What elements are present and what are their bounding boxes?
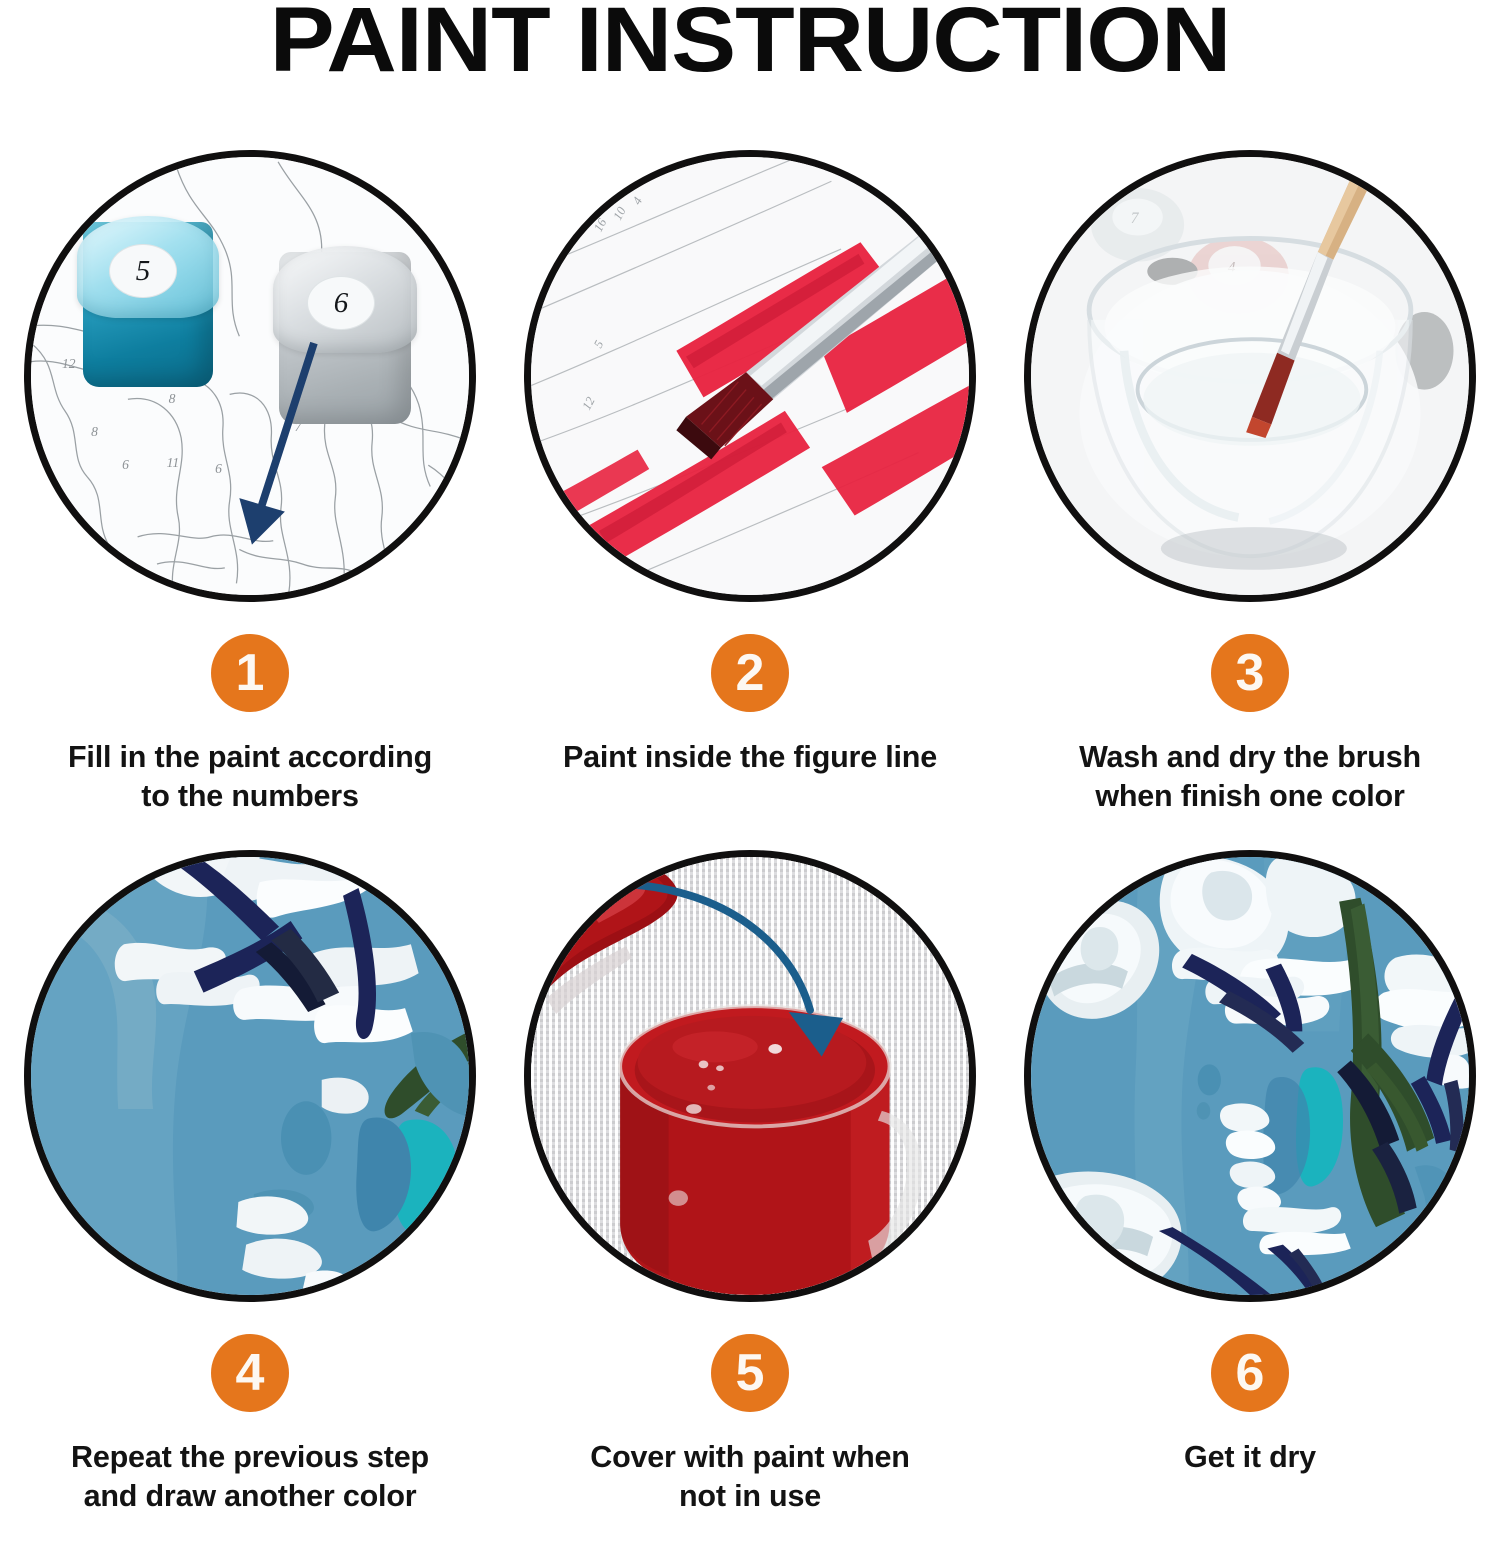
step-2-badge: 2 bbox=[711, 634, 789, 712]
svg-text:16: 16 bbox=[591, 216, 610, 234]
step-3-badge: 3 bbox=[1211, 634, 1289, 712]
step-3-photo: 7 4 bbox=[1024, 150, 1476, 602]
red-paint-strokes: 16 10 4 5 12 bbox=[531, 157, 969, 595]
svg-text:5: 5 bbox=[591, 338, 606, 350]
step-3-caption: Wash and dry the brush when finish one c… bbox=[1015, 738, 1485, 816]
painted-canvas-artwork bbox=[31, 857, 469, 1295]
instruction-steps-grid: 12 8 8 6 11 6 7 5 bbox=[0, 150, 1500, 1550]
water-glass-with-brush: 7 4 bbox=[1031, 157, 1469, 595]
step-1-photo: 12 8 8 6 11 6 7 5 bbox=[24, 150, 476, 602]
water-glass bbox=[1079, 238, 1420, 569]
step-5-photo bbox=[524, 850, 976, 1302]
step-3: 7 4 bbox=[1000, 150, 1500, 850]
step-6-caption: Get it dry bbox=[1015, 1438, 1485, 1477]
scene-paint-pots-on-numbered-canvas: 12 8 8 6 11 6 7 5 bbox=[31, 157, 469, 595]
step-2-photo: 16 10 4 5 12 bbox=[524, 150, 976, 602]
scene-brush-rinsed-in-water-glass: 7 4 bbox=[1031, 157, 1469, 595]
step-1-caption: Fill in the paint according to the numbe… bbox=[15, 738, 485, 816]
step-6-badge: 6 bbox=[1211, 1334, 1289, 1412]
page-title: PAINT INSTRUCTION bbox=[0, 0, 1500, 86]
step-5-badge: 5 bbox=[711, 1334, 789, 1412]
step-4-badge: 4 bbox=[211, 1334, 289, 1412]
svg-text:4: 4 bbox=[630, 195, 645, 207]
pot-label-7: 7 bbox=[1131, 210, 1140, 227]
step-2: 16 10 4 5 12 bbox=[500, 150, 1000, 850]
red-paint-pot bbox=[531, 857, 969, 1295]
step-2-caption: Paint inside the figure line bbox=[515, 738, 985, 777]
step-6: 6 Get it dry bbox=[1000, 850, 1500, 1550]
scene-partly-painted-canvas-closeup bbox=[31, 857, 469, 1295]
scene-finished-painting-closeup bbox=[1031, 857, 1469, 1295]
step-1-badge: 1 bbox=[211, 634, 289, 712]
step-4-caption: Repeat the previous step and draw anothe… bbox=[15, 1438, 485, 1516]
scene-brush-painting-red-strokes: 16 10 4 5 12 bbox=[531, 157, 969, 595]
scene-open-red-paint-pot-with-arrow bbox=[531, 857, 969, 1295]
step-5: 5 Cover with paint when not in use bbox=[500, 850, 1000, 1550]
step-6-photo bbox=[1024, 850, 1476, 1302]
finished-painting-artwork bbox=[1031, 857, 1469, 1295]
step-5-caption: Cover with paint when not in use bbox=[515, 1438, 985, 1516]
direction-arrow-icon bbox=[31, 157, 469, 595]
svg-text:12: 12 bbox=[579, 394, 598, 412]
step-4-photo bbox=[24, 850, 476, 1302]
svg-text:10: 10 bbox=[610, 204, 629, 222]
step-4: 4 Repeat the previous step and draw anot… bbox=[0, 850, 500, 1550]
step-1: 12 8 8 6 11 6 7 5 bbox=[0, 150, 500, 850]
